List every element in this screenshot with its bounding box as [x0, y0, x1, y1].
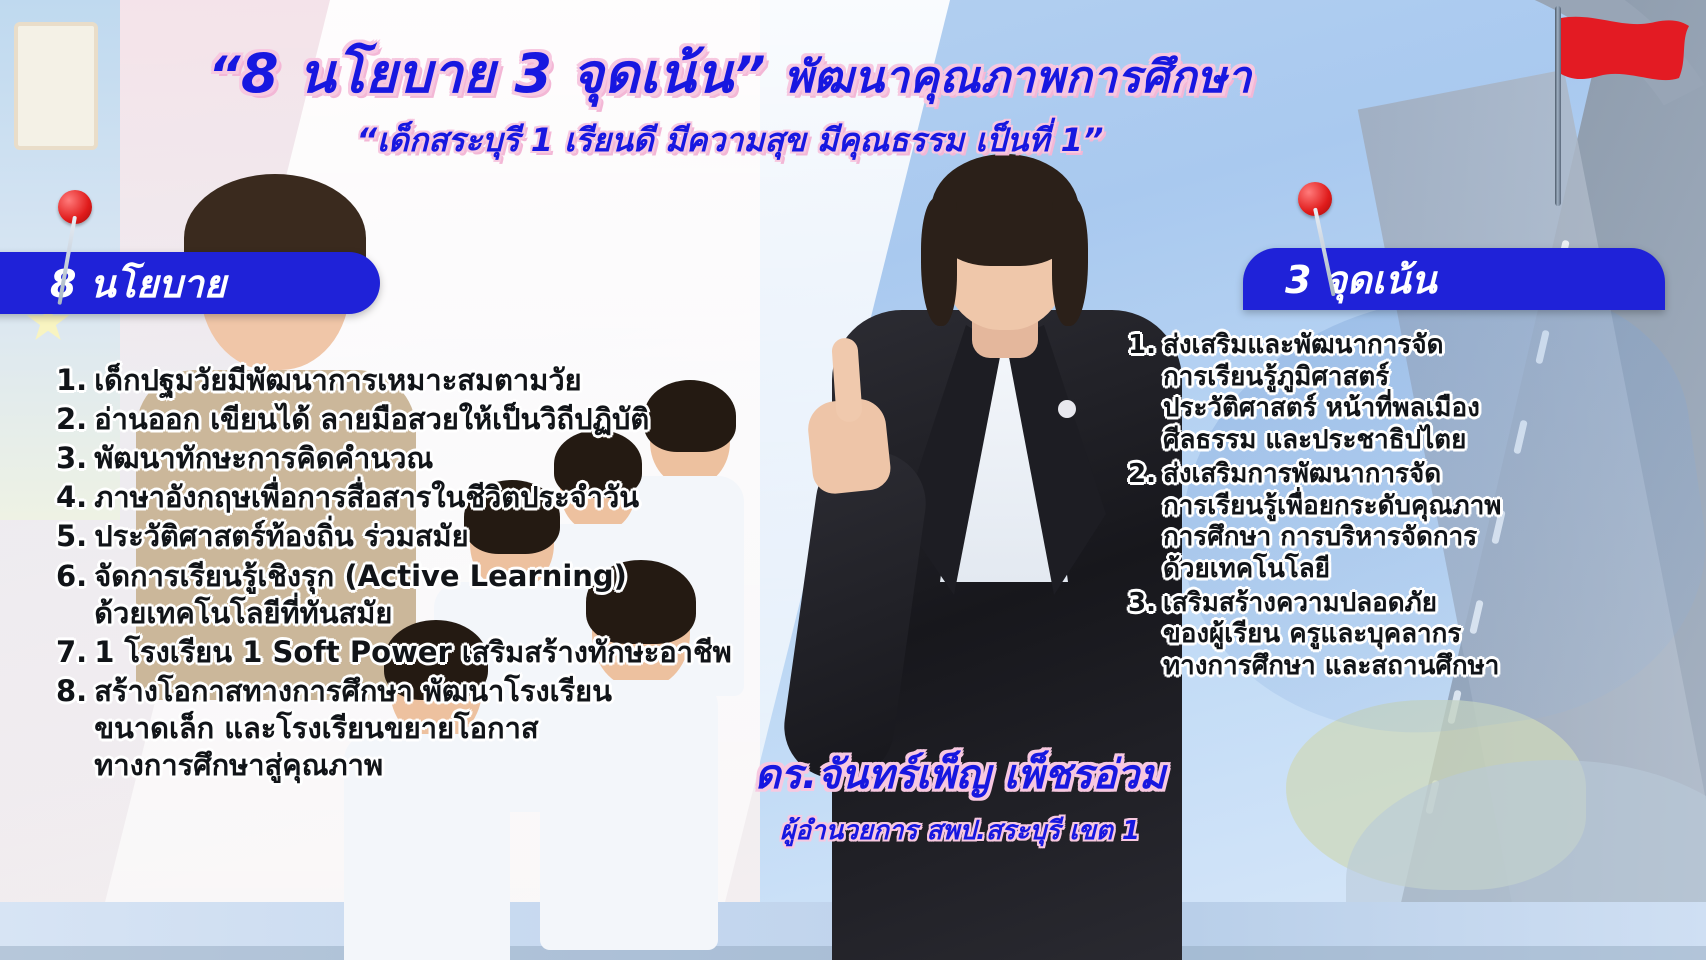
- list-item-number: 2.: [1128, 459, 1156, 586]
- push-pin-icon: [1298, 182, 1332, 216]
- list-item-number: 2.: [56, 401, 87, 438]
- list-item-line: ทางการศึกษา และสถานศึกษา: [1163, 651, 1558, 683]
- headline-block: “8 นโยบาย 3 จุดเน้น” พัฒนาคุณภาพการศึกษา…: [0, 46, 1460, 166]
- focus-points-list: 1. ส่งเสริมและพัฒนาการจัด การเรียนรู้ภูม…: [1128, 330, 1558, 685]
- list-item: 1. เด็กปฐมวัยมีพัฒนาการเหมาะสมตามวัย: [56, 362, 736, 399]
- list-item-number: 3.: [56, 440, 87, 477]
- list-item: 3. เสริมสร้างความปลอดภัย ของผู้เรียน ครู…: [1128, 588, 1558, 683]
- presenter-name: ดร.จันทร์เพ็ญ เพ็ชรอ่วม: [620, 742, 1300, 806]
- poster-canvas: “8 นโยบาย 3 จุดเน้น” พัฒนาคุณภาพการศึกษา…: [0, 0, 1706, 960]
- headline-tail: พัฒนาคุณภาพการศึกษา: [784, 52, 1252, 103]
- right-banner-label: 3 จุดเน้น: [1285, 249, 1437, 310]
- list-item-number: 7.: [56, 634, 87, 671]
- list-item-line: ภาษาอังกฤษเพื่อการสื่อสารในชีวิตประจำวัน: [94, 479, 736, 516]
- presenter-hair-side-left: [921, 198, 957, 326]
- list-item-number: 3.: [1128, 588, 1156, 683]
- list-item: 6. จัดการเรียนรู้เชิงรุก (Active Learnin…: [56, 558, 736, 632]
- list-item-line: จัดการเรียนรู้เชิงรุก (Active Learning): [94, 558, 736, 595]
- list-item-line: ส่งเสริมการพัฒนาการจัด: [1163, 459, 1558, 491]
- list-item-line: เด็กปฐมวัยมีพัฒนาการเหมาะสมตามวัย: [94, 362, 736, 399]
- list-item: 4. ภาษาอังกฤษเพื่อการสื่อสารในชีวิตประจำ…: [56, 479, 736, 516]
- list-item-line: 1 โรงเรียน 1 Soft Power เสริมสร้างทักษะอ…: [94, 634, 736, 671]
- red-flag-icon: [1561, 16, 1691, 92]
- policies-list: 1. เด็กปฐมวัยมีพัฒนาการเหมาะสมตามวัย 2. …: [56, 362, 736, 786]
- list-item-number: 1.: [1128, 330, 1156, 457]
- list-item-line: ด้วยเทคโนโลยีที่ทันสมัย: [94, 595, 736, 632]
- right-section-banner: 3 จุดเน้น: [1243, 248, 1665, 310]
- list-item-number: 5.: [56, 518, 87, 555]
- credit-block: ดร.จันทร์เพ็ญ เพ็ชรอ่วม ผู้อำนวยการ สพป.…: [620, 742, 1300, 851]
- list-item-number: 8.: [56, 673, 87, 784]
- list-item-line: พัฒนาทักษะการคิดคำนวณ: [94, 440, 736, 477]
- list-item-line: เสริมสร้างความปลอดภัย: [1163, 588, 1558, 620]
- page-subtitle: “เด็กสระบุรี 1 เรียนดี มีความสุข มีคุณธร…: [0, 115, 1460, 166]
- list-item-line: ประวัติศาสตร์ท้องถิ่น ร่วมสมัย: [94, 518, 736, 555]
- left-section-banner: 8 นโยบาย: [0, 252, 380, 314]
- presenter-hair-side-right: [1052, 198, 1088, 326]
- list-item-line: อ่านออก เขียนได้ ลายมือสวยให้เป็นวิถีปฏิ…: [94, 401, 736, 438]
- headline-quote-open: “: [208, 46, 241, 104]
- list-item: 5. ประวัติศาสตร์ท้องถิ่น ร่วมสมัย: [56, 518, 736, 555]
- push-pin-icon: [58, 190, 92, 224]
- list-item-number: 6.: [56, 558, 87, 632]
- list-item: 1. ส่งเสริมและพัฒนาการจัด การเรียนรู้ภูม…: [1128, 330, 1558, 457]
- list-item-line: การเรียนรู้เพื่อยกระดับคุณภาพ: [1163, 491, 1558, 523]
- list-item: 2. อ่านออก เขียนได้ ลายมือสวยให้เป็นวิถี…: [56, 401, 736, 438]
- list-item-line: การศึกษา การบริหารจัดการ: [1163, 522, 1558, 554]
- list-item-number: 1.: [56, 362, 87, 399]
- list-item-line: ด้วยเทคโนโลยี: [1163, 554, 1558, 586]
- list-item: 2. ส่งเสริมการพัฒนาการจัด การเรียนรู้เพื…: [1128, 459, 1558, 586]
- headline-main: 8 นโยบาย 3 จุดเน้น: [241, 42, 733, 105]
- list-item-line: ประวัติศาสตร์ หน้าที่พลเมือง: [1163, 393, 1558, 425]
- list-item: 3. พัฒนาทักษะการคิดคำนวณ: [56, 440, 736, 477]
- presenter-role: ผู้อำนวยการ สพป.สระบุรี เขต 1: [620, 810, 1300, 851]
- list-item-line: ศีลธรรม และประชาธิปไตย: [1163, 425, 1558, 457]
- list-item-line: สร้างโอกาสทางการศึกษา พัฒนาโรงเรียน: [94, 673, 736, 710]
- headline-quote-close: ”: [733, 46, 766, 104]
- presenter-brooch: [1058, 400, 1076, 418]
- list-item-number: 4.: [56, 479, 87, 516]
- left-banner-label: 8 นโยบาย: [50, 253, 226, 314]
- page-title: “8 นโยบาย 3 จุดเน้น” พัฒนาคุณภาพการศึกษา: [0, 46, 1460, 103]
- list-item-line: การเรียนรู้ภูมิศาสตร์: [1163, 362, 1558, 394]
- list-item-line: ของผู้เรียน ครูและบุคลากร: [1163, 619, 1558, 651]
- list-item: 7. 1 โรงเรียน 1 Soft Power เสริมสร้างทัก…: [56, 634, 736, 671]
- list-item-line: ส่งเสริมและพัฒนาการจัด: [1163, 330, 1558, 362]
